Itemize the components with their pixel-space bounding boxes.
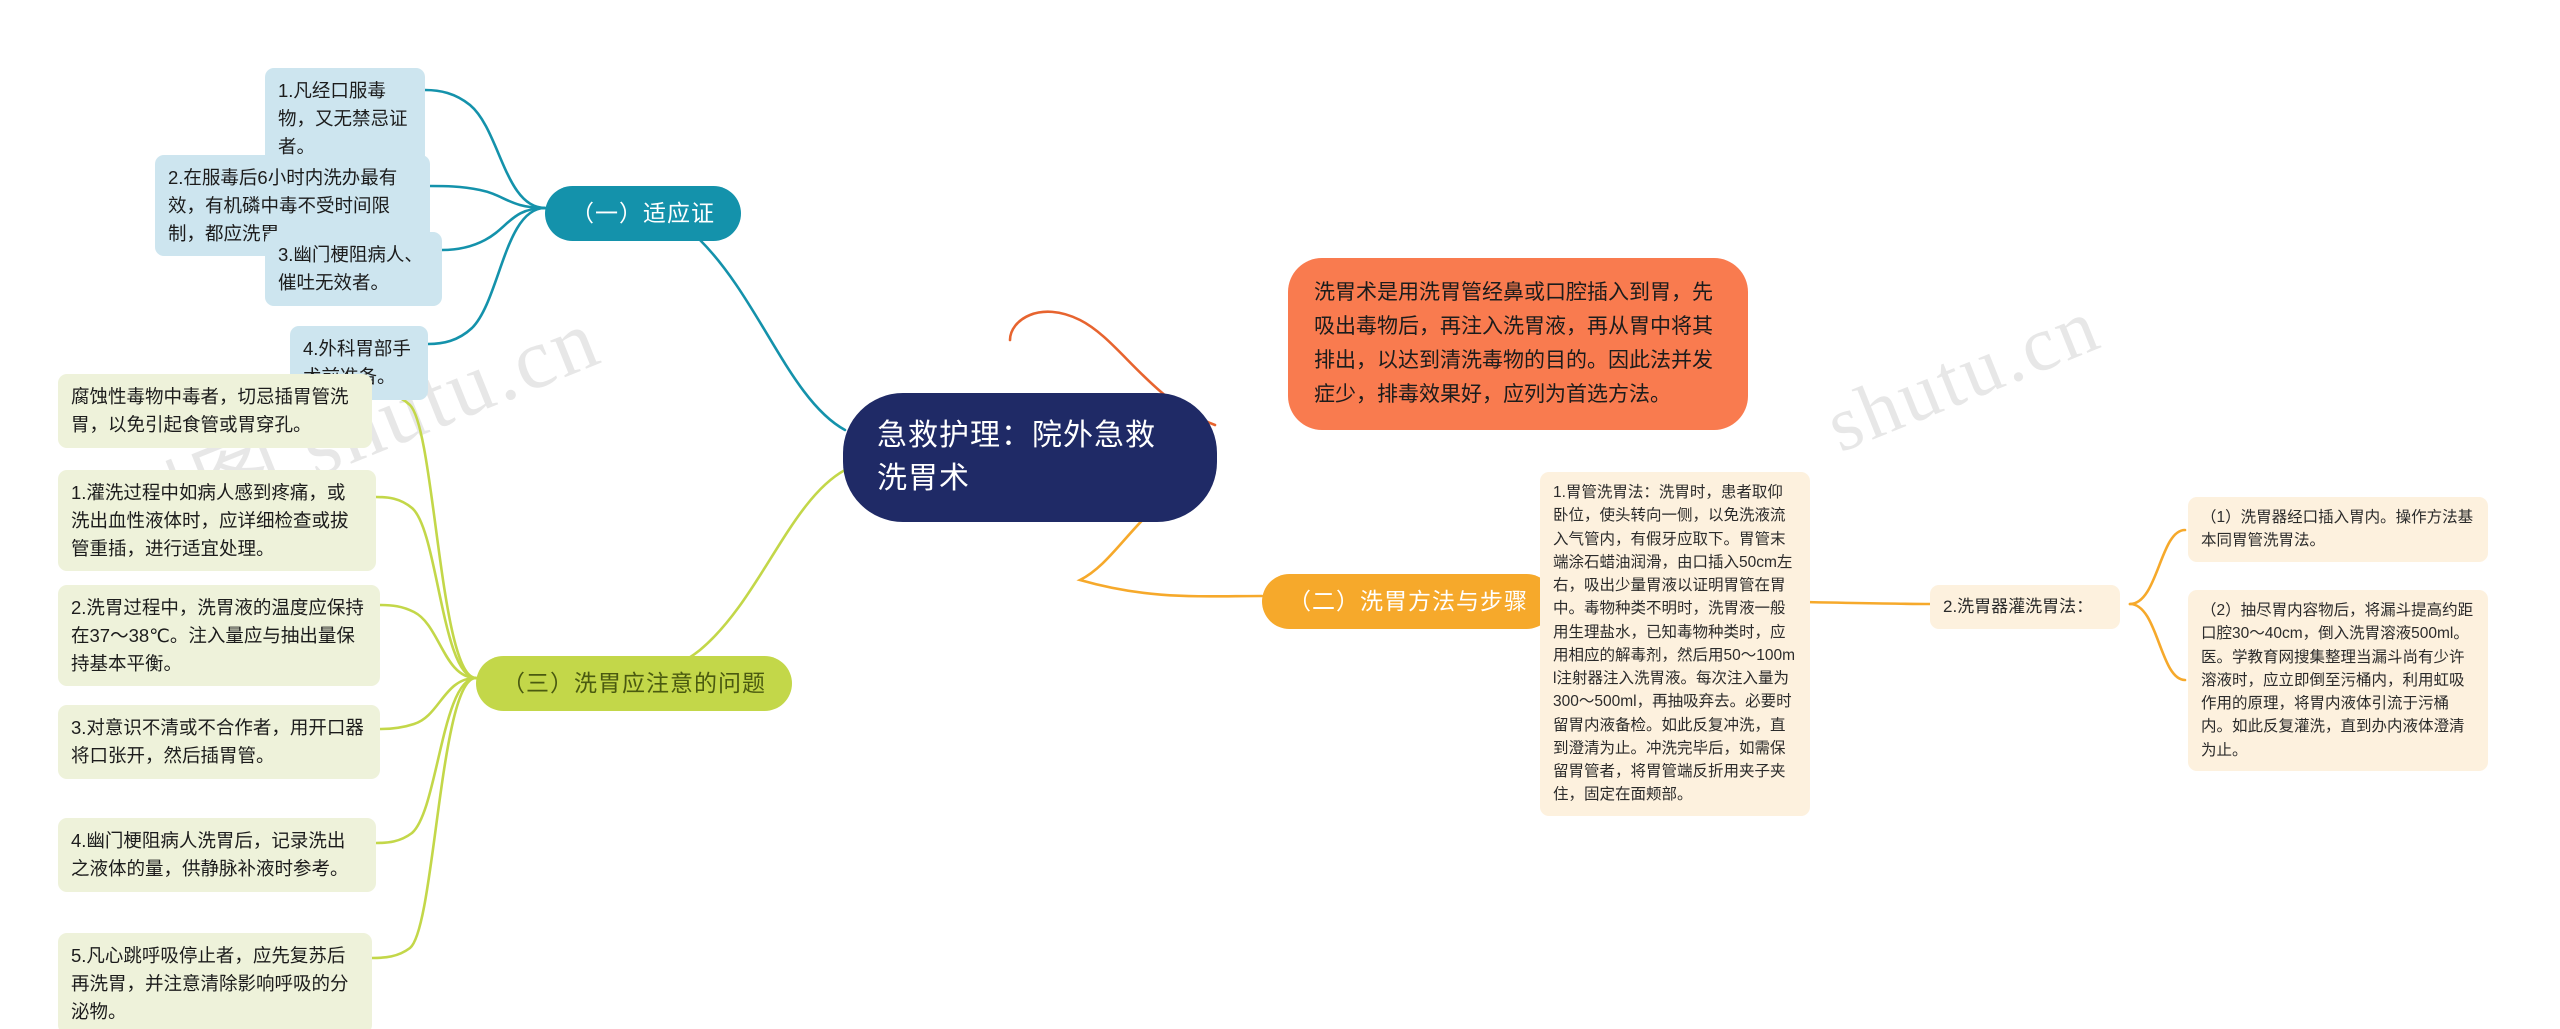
link-indications-leaf-1 xyxy=(425,90,545,208)
leaf-cautions-2[interactable]: 2.洗胃过程中，洗胃液的温度应保持在37～38℃。注入量应与抽出量保持基本平衡。 xyxy=(58,585,380,686)
leaf-cautions-0[interactable]: 腐蚀性毒物中毒者，切忌插胃管洗胃，以免引起食管或胃穿孔。 xyxy=(58,374,372,448)
root-node[interactable]: 急救护理：院外急救洗胃术 xyxy=(843,393,1217,522)
branch-label-methods[interactable]: （二）洗胃方法与步骤 xyxy=(1262,574,1554,629)
sublabel-irrigator-method[interactable]: 2.洗胃器灌洗胃法： xyxy=(1930,585,2120,629)
link-root-to-cautions xyxy=(612,470,845,678)
link-indications-leaf-2 xyxy=(430,186,545,208)
leaf-cautions-4[interactable]: 4.幽门梗阻病人洗胃后，记录洗出之液体的量，供静脉补液时参考。 xyxy=(58,818,376,892)
branch-label-cautions[interactable]: （三）洗胃应注意的问题 xyxy=(476,656,792,711)
leaf-methods-detail-1[interactable]: 1.胃管洗胃法：洗胃时，患者取仰卧位，使头转向一侧，以免洗液流入气管内，有假牙应… xyxy=(1540,472,1810,816)
link-indications-leaf-3 xyxy=(442,208,545,250)
link-sub-to-leaf-2 xyxy=(2130,604,2185,680)
link-cautions-leaf-4 xyxy=(376,678,476,843)
link-cautions-leaf-2 xyxy=(380,605,476,678)
leaf-cautions-1[interactable]: 1.灌洗过程中如病人感到疼痛，或洗出血性液体时，应详细检查或拔管重插，进行适宜处… xyxy=(58,470,376,571)
summary-box[interactable]: 洗胃术是用洗胃管经鼻或口腔插入到胃，先吸出毒物后，再注入洗胃液，再从胃中将其排出… xyxy=(1288,258,1748,430)
leaf-cautions-3[interactable]: 3.对意识不清或不合作者，用开口器将口张开，然后插胃管。 xyxy=(58,705,380,779)
leaf-irrigator-step-2[interactable]: （2）抽尽胃内容物后，将漏斗提高约距口腔30～40cm，倒入洗胃溶液500ml。… xyxy=(2188,590,2488,771)
leaf-cautions-5[interactable]: 5.凡心跳呼吸停止者，应先复苏后再洗胃，并注意清除影响呼吸的分泌物。 xyxy=(58,933,372,1029)
link-cautions-leaf-5 xyxy=(372,678,476,958)
branch-label-indications[interactable]: （一）适应证 xyxy=(545,186,741,241)
link-sub-to-leaf-1 xyxy=(2130,530,2185,604)
link-cautions-leaf-3 xyxy=(380,678,476,729)
leaf-irrigator-step-1[interactable]: （1）洗胃器经口插入胃内。操作方法基本同胃管洗胃法。 xyxy=(2188,497,2488,562)
link-cautions-leaf-1 xyxy=(376,497,476,678)
leaf-indications-3[interactable]: 3.幽门梗阻病人、催吐无效者。 xyxy=(265,232,442,306)
link-root-to-indications xyxy=(612,208,845,430)
mindmap-canvas[interactable]: 树图 shutu.cn shutu.cn shutu.cn xyxy=(0,0,2560,1029)
watermark-right: shutu.cn xyxy=(1814,280,2113,471)
